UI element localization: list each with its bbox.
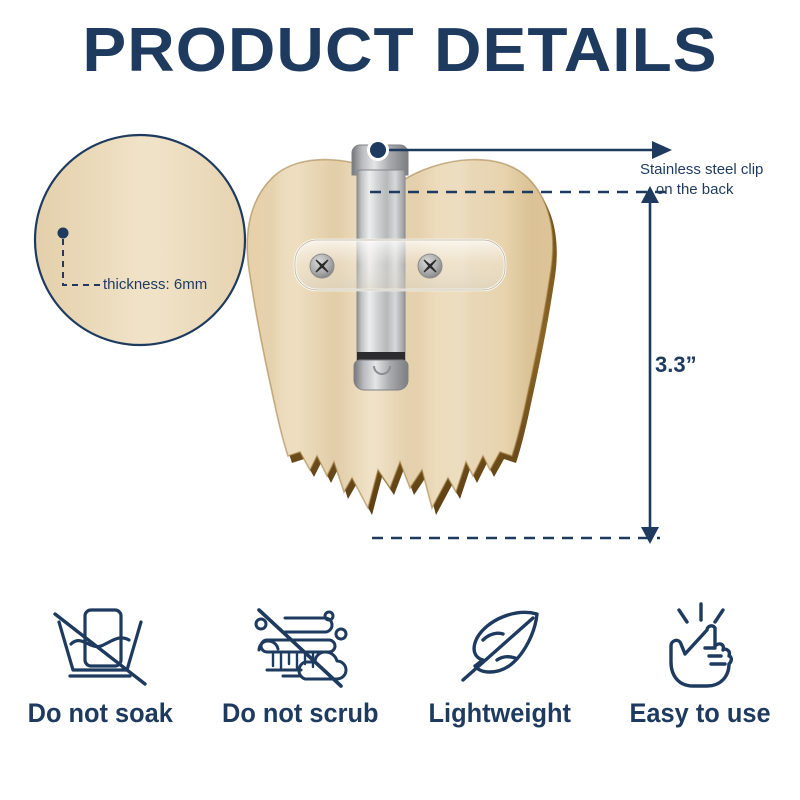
no-scrub-icon [241,600,359,692]
feature-label-do-not-soak: Do not soak [27,698,172,729]
product-illustration: Stainless steel clip on the back thickne… [0,0,800,600]
clip-annotation: Stainless steel clip on the back [640,160,763,201]
clip-annotation-line1: Stainless steel clip [640,161,763,178]
feather-icon [445,600,555,692]
feature-do-not-scrub: Do not scrub [200,600,400,729]
feature-row: Do not soak [0,600,800,775]
product-details-infographic: PRODUCT DETAILS [0,0,800,800]
clip-callout-leader [367,139,672,161]
height-dimension-label: 3.3” [655,350,697,380]
feature-label-easy-to-use: Easy to use [629,698,770,729]
feature-label-do-not-scrub: Do not scrub [222,698,379,729]
feature-easy-to-use: Easy to use [600,600,800,729]
bracket-screw-left [310,254,334,278]
thickness-annotation: thickness: 6mm [103,275,207,295]
bracket-screw-right [418,254,442,278]
no-soak-icon [45,600,155,692]
tap-hand-icon [645,600,755,692]
feature-lightweight: Lightweight [400,600,600,729]
feature-label-lightweight: Lightweight [429,698,571,729]
feature-do-not-soak: Do not soak [0,600,200,729]
clip-annotation-line2: on the back [640,180,763,200]
